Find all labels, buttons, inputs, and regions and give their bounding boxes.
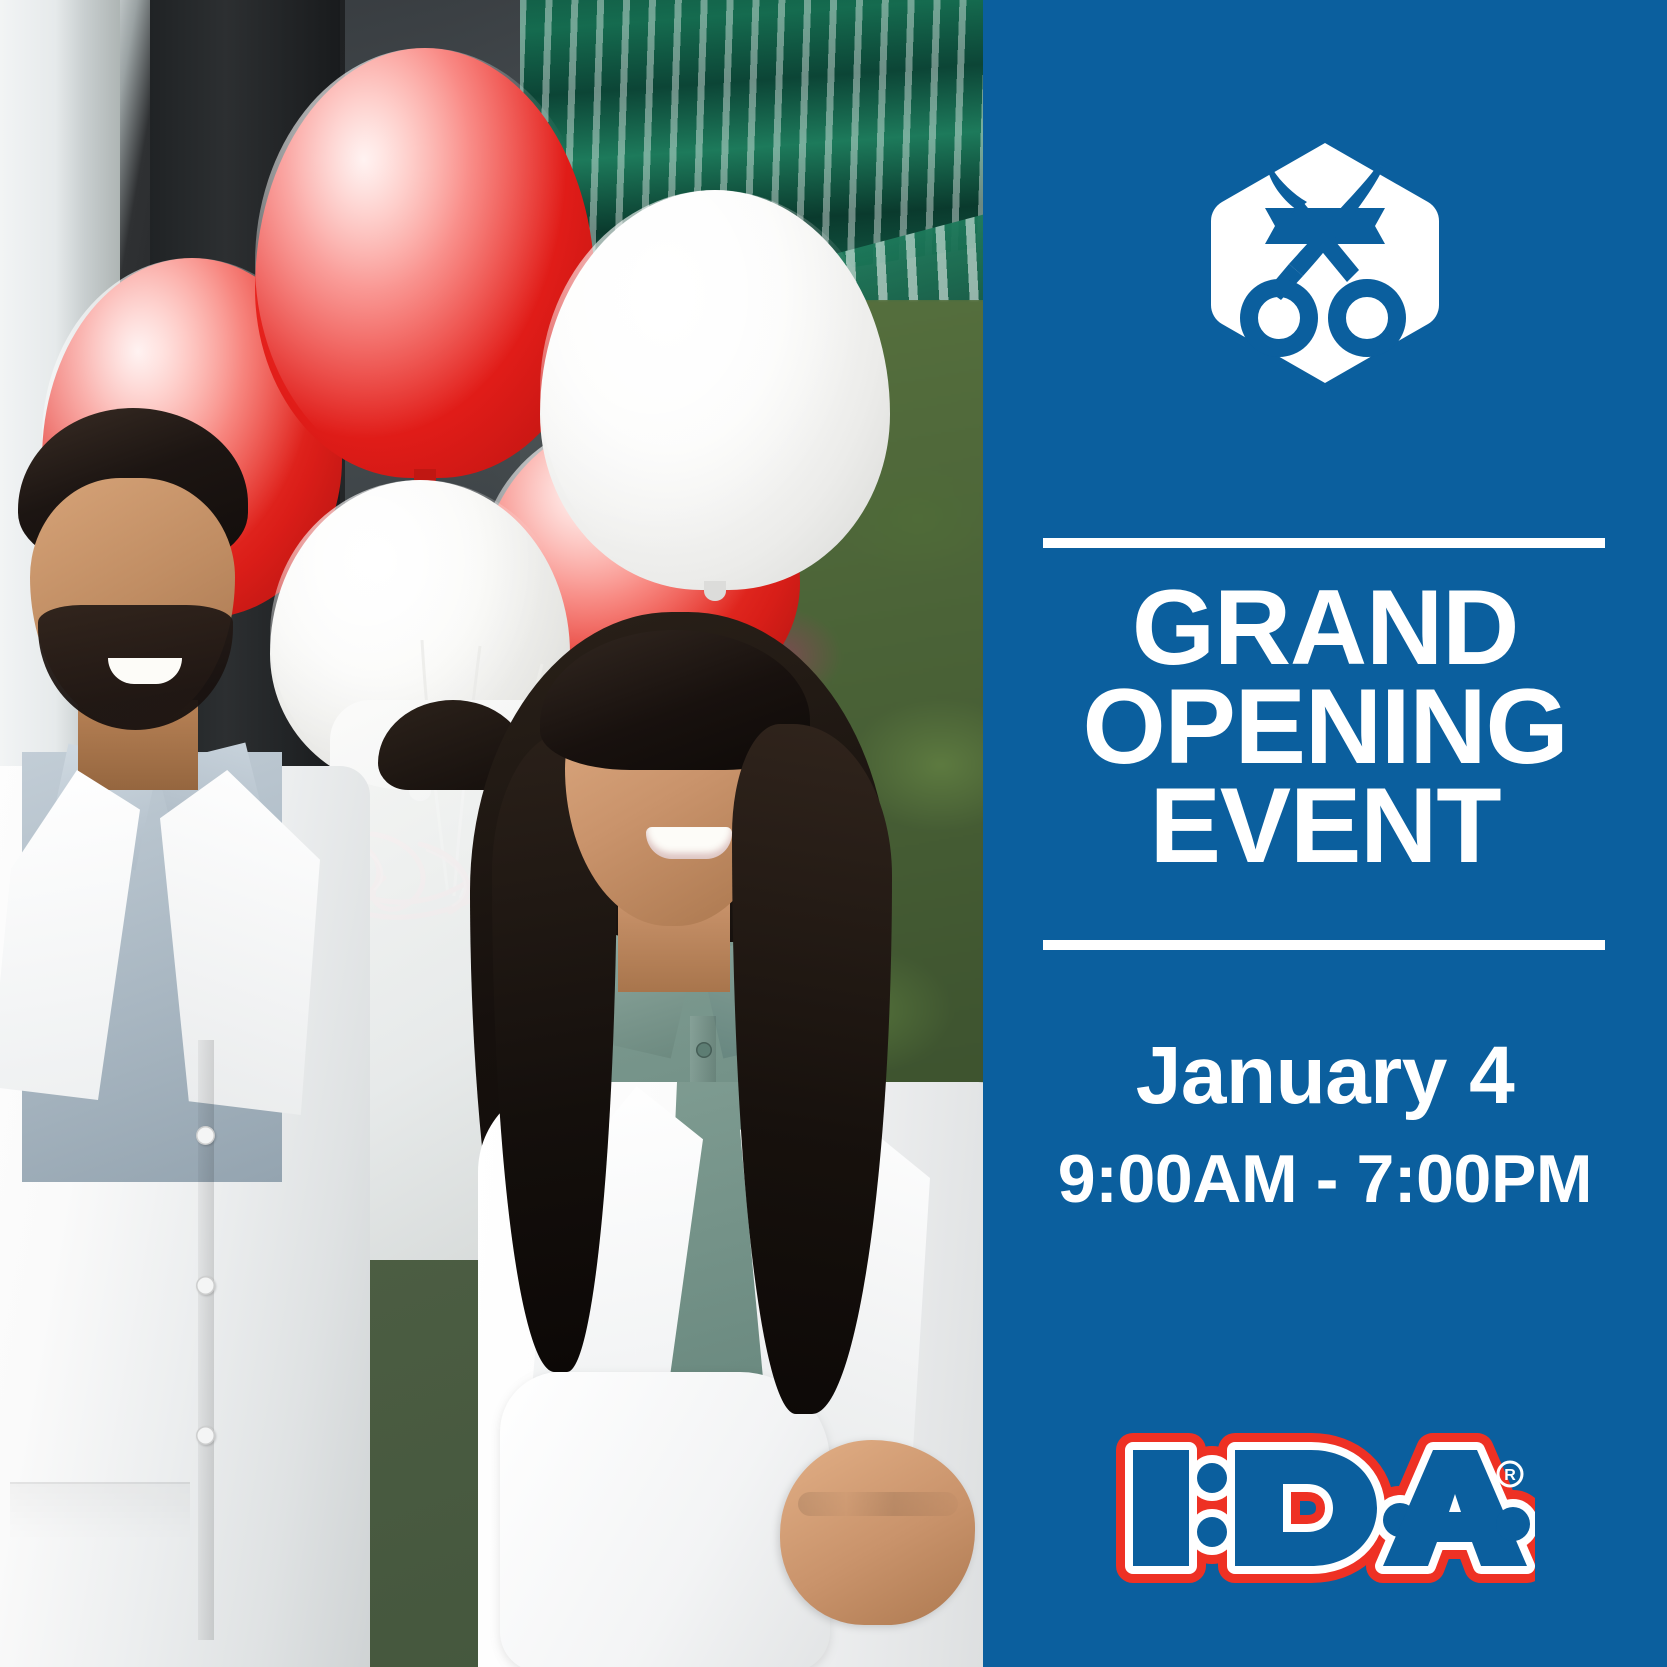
svg-text:R: R <box>1504 1467 1516 1484</box>
page-title: GRAND OPENING EVENT <box>983 578 1667 875</box>
event-time: 9:00AM - 7:00PM <box>983 1140 1667 1218</box>
headline-line-1: GRAND <box>983 578 1667 677</box>
smile <box>646 827 732 859</box>
male-pharmacist <box>0 400 380 1667</box>
headline-line-2: OPENING <box>983 677 1667 776</box>
coat-button <box>196 1426 215 1445</box>
coat-pocket <box>10 1482 190 1624</box>
female-pharmacist <box>400 612 983 1667</box>
info-panel: GRAND OPENING EVENT January 4 9:00AM - 7… <box>983 0 1667 1667</box>
divider-bottom <box>1043 940 1605 950</box>
ida-logo: R <box>1115 1428 1535 1588</box>
blouse-button <box>696 1042 712 1058</box>
pharmacists-photo <box>0 0 983 1667</box>
fingers <box>798 1492 958 1516</box>
clasped-hands <box>780 1440 975 1625</box>
divider-top <box>1043 538 1605 548</box>
headline-line-3: EVENT <box>983 776 1667 875</box>
balloon-knot <box>704 581 726 601</box>
coat-button <box>196 1126 215 1145</box>
ribbon-cutting-scissors-icon <box>1207 140 1443 386</box>
balloon-highlight <box>540 190 890 590</box>
event-date: January 4 <box>983 1030 1667 1122</box>
coat-button <box>196 1276 215 1295</box>
grand-opening-poster: GRAND OPENING EVENT January 4 9:00AM - 7… <box>0 0 1667 1667</box>
white-balloon <box>540 190 890 590</box>
